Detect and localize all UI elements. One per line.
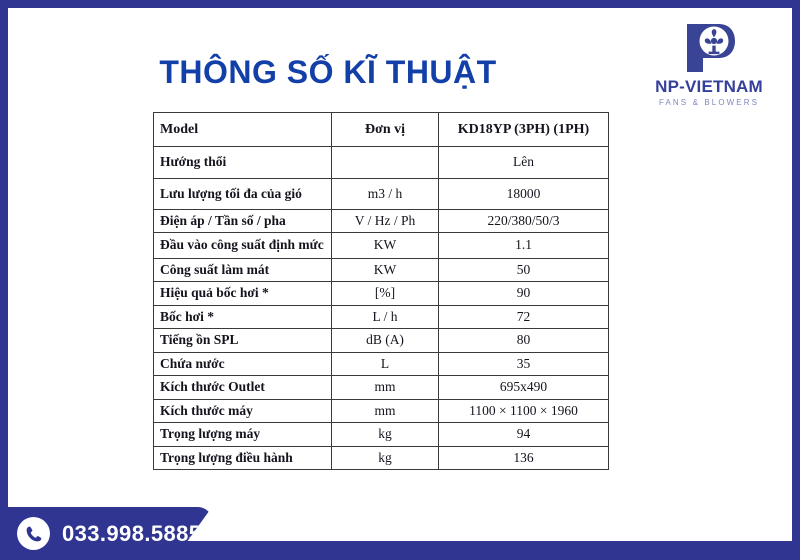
table-row: Điện áp / Tần số / pha V / Hz / Ph 220/3… — [154, 210, 609, 233]
row-value: 136 — [439, 446, 609, 469]
row-param: Tiếng ồn SPL — [154, 329, 332, 352]
table-row: Đầu vào công suất định mức KW 1.1 — [154, 233, 609, 258]
table-row: Trọng lượng điều hành kg 136 — [154, 446, 609, 469]
row-unit: kg — [332, 423, 439, 446]
table-row: Trọng lượng máy kg 94 — [154, 423, 609, 446]
poster-canvas: NP-VIETNAM FANS & BLOWERS THÔNG SỐ KĨ TH… — [8, 8, 792, 541]
row-value: 90 — [439, 282, 609, 305]
row-unit: L / h — [332, 305, 439, 328]
poster-frame: NP-VIETNAM FANS & BLOWERS THÔNG SỐ KĨ TH… — [0, 0, 800, 560]
row-unit: mm — [332, 399, 439, 422]
row-value: 50 — [439, 258, 609, 281]
row-unit — [332, 147, 439, 178]
row-param: Hướng thổi — [154, 147, 332, 178]
row-param: Trọng lượng điều hành — [154, 446, 332, 469]
table-row: Tiếng ồn SPL dB (A) 80 — [154, 329, 609, 352]
row-param: Kích thước Outlet — [154, 376, 332, 399]
phone-handset-icon — [17, 517, 50, 550]
row-value: 1.1 — [439, 233, 609, 258]
row-value: 220/380/50/3 — [439, 210, 609, 233]
row-param: Điện áp / Tần số / pha — [154, 210, 332, 233]
row-unit: [%] — [332, 282, 439, 305]
column-header-unit: Đơn vị — [332, 113, 439, 147]
row-value: 695x490 — [439, 376, 609, 399]
page-title: THÔNG SỐ KĨ THUẬT — [8, 54, 648, 91]
row-value: 80 — [439, 329, 609, 352]
row-unit: dB (A) — [332, 329, 439, 352]
logo-brand-name: NP-VIETNAM — [634, 78, 784, 96]
spec-table-container: Model Đơn vị KD18YP (3PH) (1PH) Hướng th… — [153, 112, 608, 470]
table-row: Công suất làm mát KW 50 — [154, 258, 609, 281]
row-unit: kg — [332, 446, 439, 469]
table-row: Bốc hơi * L / h 72 — [154, 305, 609, 328]
row-param: Lưu lượng tối đa của gió — [154, 178, 332, 209]
brand-logo: NP-VIETNAM FANS & BLOWERS — [634, 22, 784, 107]
row-value: 35 — [439, 352, 609, 375]
row-param: Kích thước máy — [154, 399, 332, 422]
contact-phone-bar[interactable]: 033.998.5885 — [0, 507, 212, 560]
row-param: Trọng lượng máy — [154, 423, 332, 446]
row-value: Lên — [439, 147, 609, 178]
row-value: 94 — [439, 423, 609, 446]
fan-in-letter-p-icon — [681, 22, 737, 74]
row-unit: KW — [332, 258, 439, 281]
table-row: Lưu lượng tối đa của gió m3 / h 18000 — [154, 178, 609, 209]
logo-tagline: FANS & BLOWERS — [634, 99, 784, 107]
table-row: Hướng thổi Lên — [154, 147, 609, 178]
row-unit: KW — [332, 233, 439, 258]
row-unit: L — [332, 352, 439, 375]
row-unit: m3 / h — [332, 178, 439, 209]
spec-table: Model Đơn vị KD18YP (3PH) (1PH) Hướng th… — [153, 112, 609, 470]
row-unit: mm — [332, 376, 439, 399]
table-row: Kích thước Outlet mm 695x490 — [154, 376, 609, 399]
row-value: 1100 × 1100 × 1960 — [439, 399, 609, 422]
row-value: 72 — [439, 305, 609, 328]
table-row: Chứa nước L 35 — [154, 352, 609, 375]
row-param: Chứa nước — [154, 352, 332, 375]
row-param: Công suất làm mát — [154, 258, 332, 281]
table-row: Hiệu quả bốc hơi * [%] 90 — [154, 282, 609, 305]
row-unit: V / Hz / Ph — [332, 210, 439, 233]
table-row: Kích thước máy mm 1100 × 1100 × 1960 — [154, 399, 609, 422]
row-param: Đầu vào công suất định mức — [154, 233, 332, 258]
row-value: 18000 — [439, 178, 609, 209]
phone-number-text: 033.998.5885 — [62, 521, 201, 547]
table-header-row: Model Đơn vị KD18YP (3PH) (1PH) — [154, 113, 609, 147]
row-param: Bốc hơi * — [154, 305, 332, 328]
column-header-model: Model — [154, 113, 332, 147]
row-param: Hiệu quả bốc hơi * — [154, 282, 332, 305]
column-header-value: KD18YP (3PH) (1PH) — [439, 113, 609, 147]
